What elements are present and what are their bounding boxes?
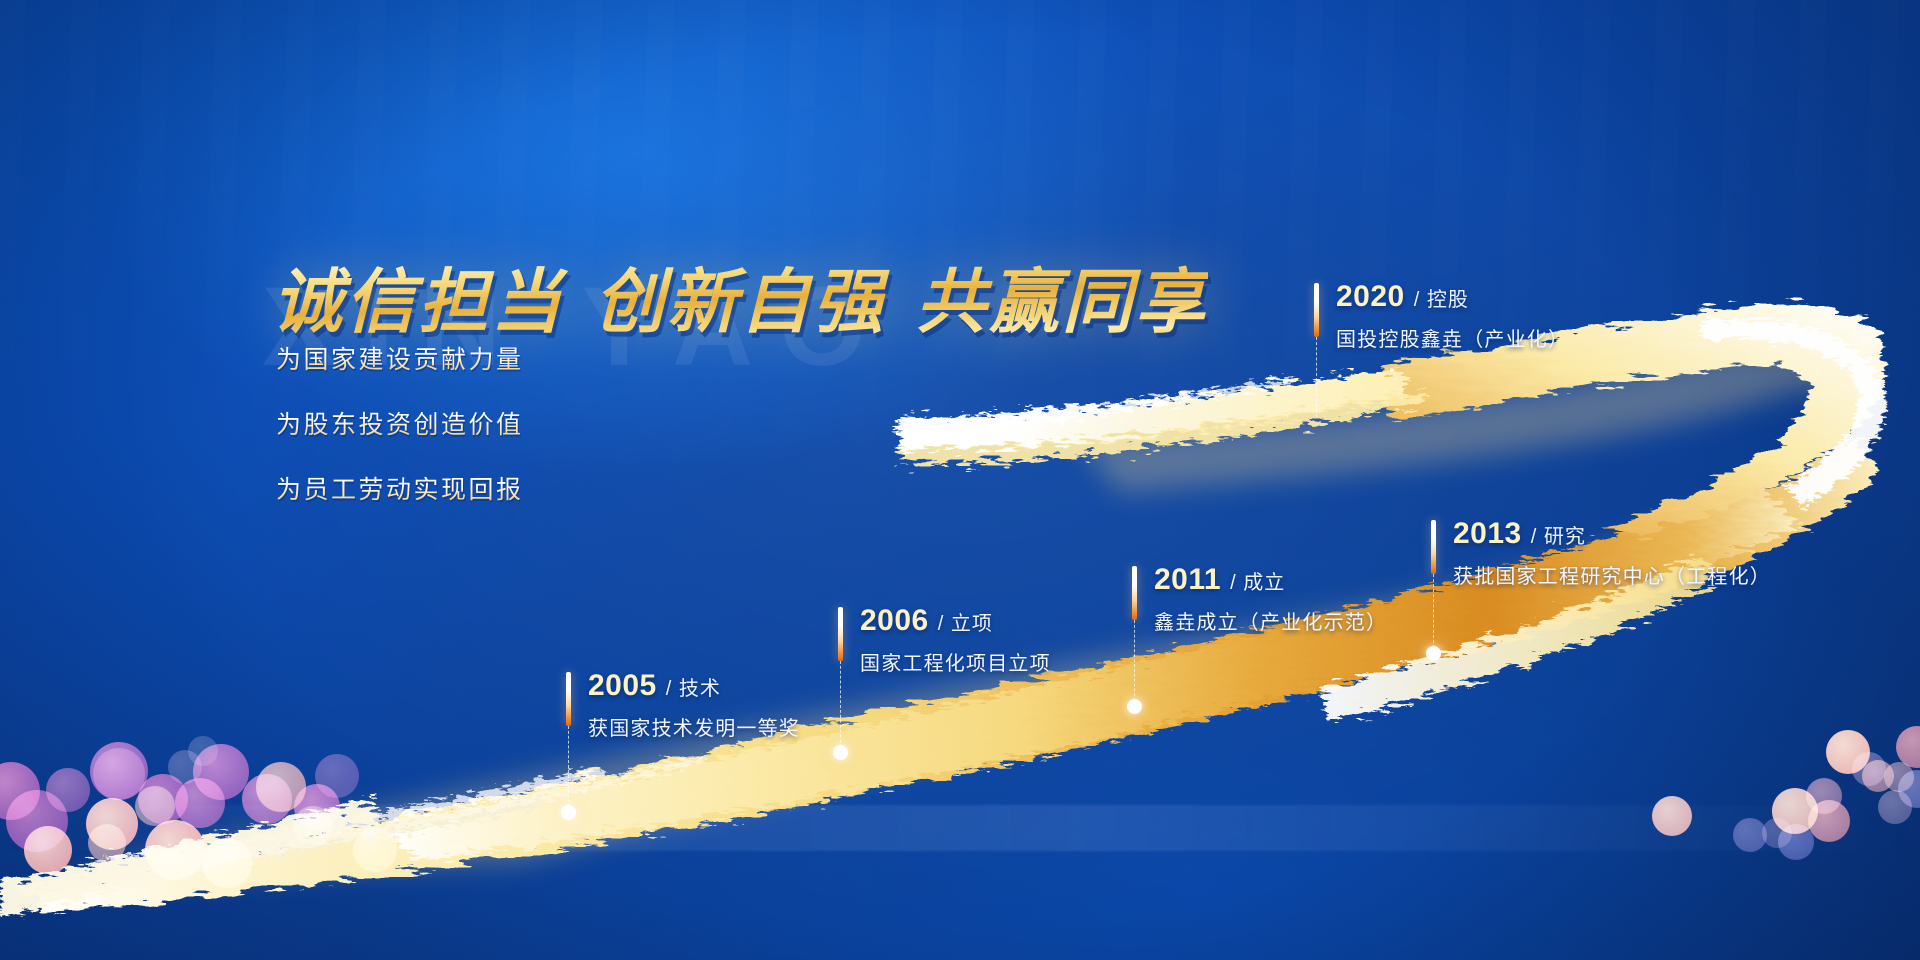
bokeh-light <box>188 736 218 766</box>
timeline-label: 2020/ 控股 国投控股鑫垚（产业化） <box>1336 280 1569 352</box>
timeline-separator: / <box>1230 572 1237 594</box>
timeline-tag-text: 成立 <box>1243 572 1285 594</box>
timeline-leader-line-2020 <box>1316 337 1317 417</box>
bokeh-light <box>293 806 333 846</box>
timeline-leader-line-2006 <box>840 661 841 752</box>
slogan-item: 为国家建设贡献力量 <box>276 340 524 376</box>
page-title-part-2: 创新自强 <box>594 265 886 342</box>
timeline-description: 国家工程化项目立项 <box>860 647 1051 676</box>
timeline-marker-bar <box>1431 520 1436 574</box>
timeline-separator: / <box>938 613 945 635</box>
timeline-tag: / 技术 <box>666 672 721 701</box>
timeline-year: 2006 <box>860 604 929 638</box>
bokeh-light <box>315 754 359 798</box>
page-title-part-3: 共赢同享 <box>916 265 1208 342</box>
timeline-tag-text: 控股 <box>1427 289 1469 311</box>
timeline-year: 2013 <box>1453 517 1522 551</box>
bokeh-light <box>46 768 90 812</box>
timeline-year: 2011 <box>1154 563 1221 597</box>
timeline-dot-2013[interactable] <box>1426 646 1441 661</box>
timeline-tag: / 立项 <box>938 607 993 636</box>
slogan-item: 为员工劳动实现回报 <box>276 470 524 506</box>
banner-canvas: XIN YAO <box>0 0 1920 960</box>
timeline-marker-bar <box>566 672 571 726</box>
timeline-label: 2005/ 技术 获国家技术发明一等奖 <box>588 669 800 741</box>
timeline-description: 鑫垚成立（产业化示范） <box>1154 606 1387 635</box>
bokeh-light <box>1808 800 1850 842</box>
timeline-label: 2011/ 成立 鑫垚成立（产业化示范） <box>1154 563 1387 635</box>
timeline-description: 国投控股鑫垚（产业化） <box>1336 323 1569 352</box>
timeline-tag-text: 研究 <box>1544 526 1586 548</box>
bokeh-light <box>88 824 126 862</box>
timeline-marker-bar <box>838 607 843 661</box>
timeline-leader-line-2013 <box>1433 574 1434 653</box>
timeline-separator: / <box>1531 526 1538 548</box>
timeline-description: 获国家技术发明一等奖 <box>588 712 800 741</box>
bokeh-light <box>145 820 205 880</box>
timeline-separator: / <box>1414 289 1421 311</box>
bokeh-light <box>135 786 175 826</box>
timeline-year: 2005 <box>588 669 657 703</box>
bokeh-light <box>90 742 148 800</box>
timeline-dot-2006[interactable] <box>833 745 848 760</box>
bokeh-light <box>1652 796 1692 836</box>
slogan-item: 为股东投资创造价值 <box>276 405 524 441</box>
timeline-year: 2020 <box>1336 280 1405 314</box>
timeline-dot-2011[interactable] <box>1127 699 1142 714</box>
timeline-tag-text: 技术 <box>679 678 721 700</box>
bokeh-light <box>202 838 252 888</box>
timeline-dot-2005[interactable] <box>561 805 576 820</box>
page-title-part-1: 诚信担当 <box>272 265 564 342</box>
timeline-label: 2013/ 研究 获批国家工程研究中心（工程化） <box>1453 517 1771 589</box>
timeline-tag: / 研究 <box>1531 520 1586 549</box>
timeline-leader-line-2005 <box>568 726 569 812</box>
timeline-leader-line-2011 <box>1134 620 1135 706</box>
timeline-description: 获批国家工程研究中心（工程化） <box>1453 560 1771 589</box>
page-title: 诚信担当创新自强共赢同享 <box>272 246 1208 347</box>
timeline-tag: / 成立 <box>1230 566 1285 595</box>
timeline-tag-text: 立项 <box>951 613 993 635</box>
bokeh-light <box>353 828 397 872</box>
slogan-list: 为国家建设贡献力量 为股东投资创造价值 为员工劳动实现回报 <box>276 340 524 535</box>
timeline-marker-bar <box>1314 283 1319 337</box>
timeline-tag: / 控股 <box>1414 283 1469 312</box>
timeline-marker-bar <box>1132 566 1137 620</box>
bokeh-light <box>24 826 72 874</box>
timeline-label: 2006/ 立项 国家工程化项目立项 <box>860 604 1051 676</box>
timeline-separator: / <box>666 678 673 700</box>
